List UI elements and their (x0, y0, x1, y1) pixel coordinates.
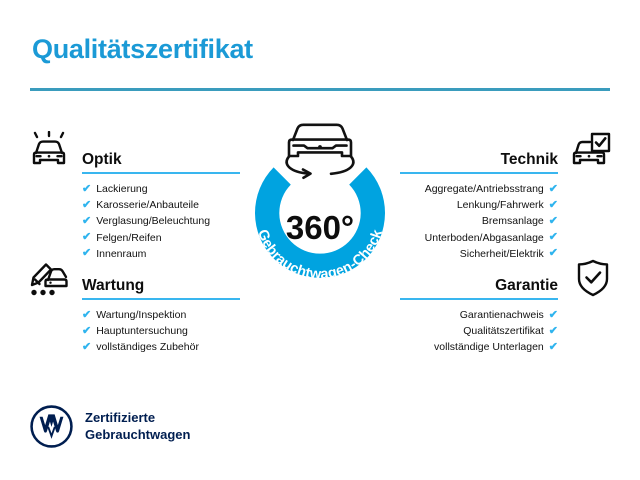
list-item-label: Lenkung/Fahrwerk (457, 197, 544, 213)
section-garantie: Garantie ✔Garantienachweis ✔Qualitätszer… (400, 272, 558, 356)
list-item-label: vollständiges Zubehör (96, 339, 199, 355)
check-icon: ✔ (82, 216, 91, 227)
page-title: Qualitätszertifikat (32, 34, 253, 65)
check-icon: ✔ (82, 342, 91, 353)
quality-certificate: Qualitätszertifikat Optik ✔Lackierung ✔K… (0, 0, 640, 480)
list-item: ✔Sicherheit/Elektrik (400, 246, 558, 262)
vw-logo-block: Zertifizierte Gebrauchtwagen (30, 405, 190, 448)
check-icon: ✔ (549, 342, 558, 353)
list-item: ✔Lackierung (82, 181, 240, 197)
car-checkbox-icon (566, 131, 612, 171)
list-item: ✔Verglasung/Beleuchtung (82, 213, 240, 229)
list-item: ✔Lenkung/Fahrwerk (400, 197, 558, 213)
check-icon: ✔ (82, 310, 91, 321)
section-wartung-divider (82, 298, 240, 301)
list-item-label: Hauptuntersuchung (96, 323, 188, 339)
shield-check-icon (570, 258, 616, 298)
list-item-label: Sicherheit/Elektrik (460, 246, 544, 262)
list-item-label: Qualitätszertifikat (463, 323, 544, 339)
title-divider (30, 88, 610, 91)
list-item-label: Karosserie/Anbauteile (96, 197, 199, 213)
vw-logo-line2: Gebrauchtwagen (85, 427, 190, 444)
section-garantie-list: ✔Garantienachweis ✔Qualitätszertifikat ✔… (400, 307, 558, 356)
section-technik-title: Technik (501, 151, 558, 169)
section-optik-head: Optik (82, 146, 240, 172)
list-item-label: Lackierung (96, 181, 147, 197)
list-item: ✔Qualitätszertifikat (400, 323, 558, 339)
list-item: ✔Karosserie/Anbauteile (82, 197, 240, 213)
list-item: ✔Felgen/Reifen (82, 230, 240, 246)
section-garantie-divider (400, 298, 558, 301)
car-service-pen-icon (26, 258, 72, 298)
check-icon: ✔ (549, 310, 558, 321)
badge-360-gebrauchtwagen-check: 360° Gebrauchtwagen-Check (232, 113, 408, 305)
list-item-label: Unterboden/Abgasanlage (425, 230, 544, 246)
check-icon: ✔ (82, 200, 91, 211)
list-item: ✔vollständige Unterlagen (400, 339, 558, 355)
section-technik-divider (400, 172, 558, 175)
list-item: ✔Bremsanlage (400, 213, 558, 229)
list-item-label: Felgen/Reifen (96, 230, 161, 246)
list-item-label: Bremsanlage (482, 213, 544, 229)
check-icon: ✔ (82, 232, 91, 243)
section-garantie-head: Garantie (400, 272, 558, 298)
check-icon: ✔ (549, 232, 558, 243)
car-rotate-360-icon (287, 125, 354, 178)
car-shine-icon (26, 131, 72, 171)
list-item-label: Aggregate/Antriebsstrang (425, 181, 544, 197)
section-optik-list: ✔Lackierung ✔Karosserie/Anbauteile ✔Verg… (82, 181, 240, 262)
check-icon: ✔ (549, 216, 558, 227)
list-item: ✔Aggregate/Antriebsstrang (400, 181, 558, 197)
section-wartung-list: ✔Wartung/Inspektion ✔Hauptuntersuchung ✔… (82, 307, 240, 356)
list-item-label: Verglasung/Beleuchtung (96, 213, 210, 229)
list-item: ✔Garantienachweis (400, 307, 558, 323)
list-item-label: Wartung/Inspektion (96, 307, 186, 323)
list-item: ✔Wartung/Inspektion (82, 307, 240, 323)
section-optik: Optik ✔Lackierung ✔Karosserie/Anbauteile… (82, 146, 240, 262)
vw-logo-icon (30, 405, 73, 448)
check-icon: ✔ (549, 248, 558, 259)
check-icon: ✔ (82, 326, 91, 337)
section-wartung: Wartung ✔Wartung/Inspektion ✔Hauptunters… (82, 272, 240, 356)
section-wartung-head: Wartung (82, 272, 240, 298)
vw-logo-text: Zertifizierte Gebrauchtwagen (85, 410, 190, 443)
section-technik-head: Technik (400, 146, 558, 172)
list-item: ✔Innenraum (82, 246, 240, 262)
list-item-label: Innenraum (96, 246, 146, 262)
section-technik: Technik ✔Aggregate/Antriebsstrang ✔Lenku… (400, 146, 558, 262)
section-technik-list: ✔Aggregate/Antriebsstrang ✔Lenkung/Fahrw… (400, 181, 558, 262)
check-icon: ✔ (549, 184, 558, 195)
badge-center-label: 360° (286, 209, 354, 246)
list-item-label: vollständige Unterlagen (434, 339, 544, 355)
section-wartung-title: Wartung (82, 277, 144, 295)
check-icon: ✔ (82, 248, 91, 259)
section-optik-divider (82, 172, 240, 175)
list-item: ✔Unterboden/Abgasanlage (400, 230, 558, 246)
section-garantie-title: Garantie (495, 277, 558, 295)
check-icon: ✔ (82, 184, 91, 195)
check-icon: ✔ (549, 200, 558, 211)
vw-logo-line1: Zertifizierte (85, 410, 190, 427)
list-item-label: Garantienachweis (460, 307, 544, 323)
check-icon: ✔ (549, 326, 558, 337)
section-optik-title: Optik (82, 151, 122, 169)
list-item: ✔Hauptuntersuchung (82, 323, 240, 339)
list-item: ✔vollständiges Zubehör (82, 339, 240, 355)
